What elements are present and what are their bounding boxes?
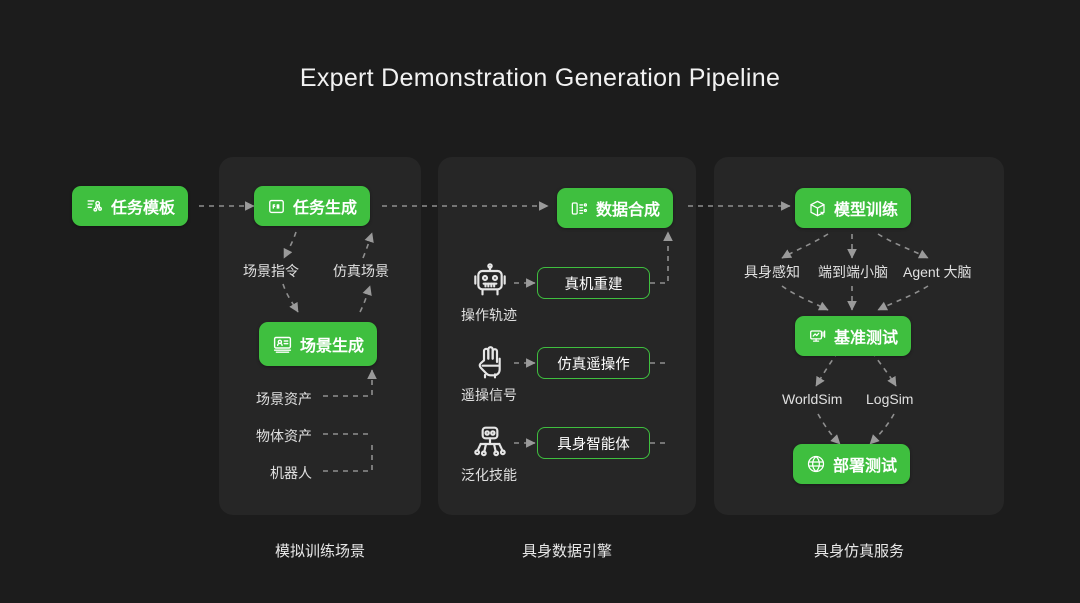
scene-icon bbox=[272, 334, 293, 355]
robot-head-icon bbox=[470, 262, 510, 307]
node-model-training[interactable]: 模型训练 bbox=[795, 188, 911, 228]
node-deploy-test-label: 部署测试 bbox=[833, 452, 897, 476]
label-generalization-skill: 泛化技能 bbox=[461, 465, 517, 485]
node-task-generation[interactable]: 任务生成 bbox=[254, 186, 370, 226]
benchmark-icon bbox=[808, 327, 827, 346]
node-sim-teleop-label: 仿真遥操作 bbox=[557, 353, 630, 374]
node-benchmark-test[interactable]: 基准测试 bbox=[795, 316, 911, 356]
node-data-synthesis-label: 数据合成 bbox=[596, 196, 660, 220]
label-embodied-perception: 具身感知 bbox=[744, 262, 800, 282]
node-deploy-test[interactable]: 部署测试 bbox=[793, 444, 910, 484]
panel-caption-3: 具身仿真服务 bbox=[714, 540, 1004, 561]
label-scene-asset: 场景资产 bbox=[256, 389, 312, 409]
node-embodied-agent-label: 具身智能体 bbox=[557, 433, 630, 454]
node-task-template[interactable]: 任务模板 bbox=[72, 186, 188, 226]
glove-icon bbox=[470, 342, 510, 387]
label-sim-scene: 仿真场景 bbox=[333, 261, 389, 281]
panel-caption-1: 模拟训练场景 bbox=[219, 540, 421, 561]
sparkle-template-icon bbox=[85, 197, 104, 216]
node-embodied-agent[interactable]: 具身智能体 bbox=[537, 427, 650, 459]
label-teleop-signal: 遥操信号 bbox=[461, 385, 517, 405]
label-agent-brain: Agent 大脑 bbox=[903, 262, 971, 282]
node-sim-teleop[interactable]: 仿真遥操作 bbox=[537, 347, 650, 379]
node-scene-generation[interactable]: 场景生成 bbox=[259, 322, 377, 366]
node-real-machine-rebuild-label: 真机重建 bbox=[565, 273, 623, 294]
label-operation-trajectory: 操作轨迹 bbox=[461, 305, 517, 325]
data-sync-icon bbox=[570, 199, 589, 218]
node-real-machine-rebuild[interactable]: 真机重建 bbox=[537, 267, 650, 299]
node-task-template-label: 任务模板 bbox=[111, 194, 175, 218]
node-benchmark-test-label: 基准测试 bbox=[834, 324, 898, 348]
node-data-synthesis[interactable]: 数据合成 bbox=[557, 188, 673, 228]
label-worldsim: WorldSim bbox=[782, 391, 842, 407]
label-scene-instruction: 场景指令 bbox=[243, 261, 299, 281]
cube-training-icon bbox=[808, 199, 827, 218]
diagram-canvas: Expert Demonstration Generation Pipeline bbox=[0, 0, 1080, 603]
node-task-generation-label: 任务生成 bbox=[293, 194, 357, 218]
node-model-training-label: 模型训练 bbox=[834, 196, 898, 220]
deploy-icon bbox=[806, 454, 826, 474]
label-logsim: LogSim bbox=[866, 391, 913, 407]
label-robot: 机器人 bbox=[270, 463, 312, 483]
node-scene-generation-label: 场景生成 bbox=[300, 332, 364, 356]
script-icon bbox=[267, 197, 286, 216]
label-end-to-end-brain: 端到端小脑 bbox=[818, 262, 888, 282]
label-object-asset: 物体资产 bbox=[256, 426, 312, 446]
agent-body-icon bbox=[470, 422, 510, 467]
panel-caption-2: 具身数据引擎 bbox=[438, 540, 696, 561]
page-title: Expert Demonstration Generation Pipeline bbox=[0, 64, 1080, 93]
